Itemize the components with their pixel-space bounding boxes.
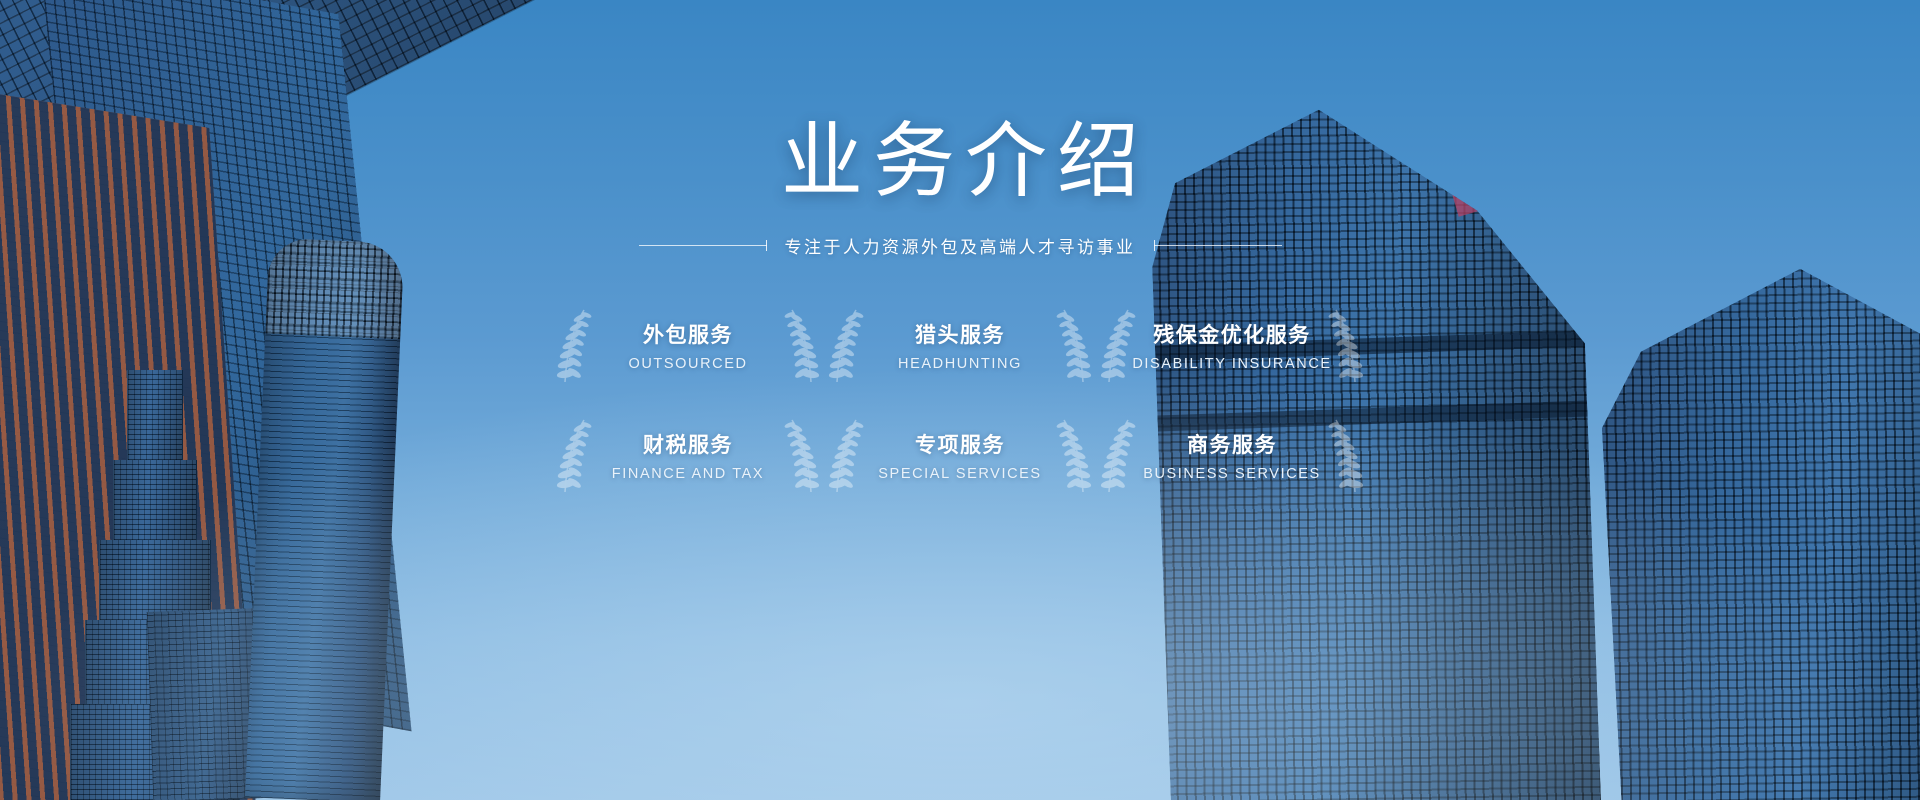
service-label-en: SPECIAL SERVICES <box>878 466 1041 482</box>
service-item-business-services[interactable]: 商务服务 BUSINESS SERVICES <box>1096 412 1368 500</box>
service-label-en: OUTSOURCED <box>628 356 747 372</box>
business-intro-banner: 业务介绍 专注于人力资源外包及高端人才寻访事业 <box>0 0 1920 800</box>
divider-rule-right <box>1154 245 1282 246</box>
service-label-cn: 财税服务 <box>643 429 733 459</box>
laurel-branch-icon <box>1098 416 1136 496</box>
service-label-cn: 外包服务 <box>643 319 733 349</box>
subtitle-row: 专注于人力资源外包及高端人才寻访事业 <box>639 233 1282 258</box>
service-item-disability-insurance[interactable]: 残保金优化服务 DISABILITY INSURANCE <box>1096 302 1368 390</box>
laurel-branch-icon <box>1056 416 1094 496</box>
laurel-branch-icon <box>826 306 864 386</box>
service-label-en: BUSINESS SERVICES <box>1143 466 1321 482</box>
page-title: 业务介绍 <box>771 118 1149 207</box>
divider-rule-left <box>639 245 767 246</box>
services-grid: 外包服务 OUTSOURCED <box>552 302 1368 500</box>
laurel-branch-icon <box>784 416 822 496</box>
service-item-special-services[interactable]: 专项服务 SPECIAL SERVICES <box>824 412 1096 500</box>
laurel-branch-icon <box>1328 306 1366 386</box>
laurel-branch-icon <box>1328 416 1366 496</box>
laurel-branch-icon <box>554 306 592 386</box>
service-label-en: DISABILITY INSURANCE <box>1132 356 1331 372</box>
service-item-headhunting[interactable]: 猎头服务 HEADHUNTING <box>824 302 1096 390</box>
page-subtitle: 专注于人力资源外包及高端人才寻访事业 <box>785 233 1136 258</box>
service-item-finance-and-tax[interactable]: 财税服务 FINANCE AND TAX <box>552 412 824 500</box>
service-label-en: HEADHUNTING <box>898 356 1022 372</box>
service-item-outsourced[interactable]: 外包服务 OUTSOURCED <box>552 302 824 390</box>
service-label-cn: 商务服务 <box>1187 429 1277 459</box>
laurel-branch-icon <box>1098 306 1136 386</box>
service-label-cn: 残保金优化服务 <box>1153 319 1311 349</box>
laurel-branch-icon <box>784 306 822 386</box>
laurel-branch-icon <box>1056 306 1094 386</box>
laurel-branch-icon <box>826 416 864 496</box>
service-label-cn: 专项服务 <box>915 429 1005 459</box>
service-label-cn: 猎头服务 <box>915 319 1005 349</box>
banner-content: 业务介绍 专注于人力资源外包及高端人才寻访事业 <box>0 0 1920 800</box>
laurel-branch-icon <box>554 416 592 496</box>
service-label-en: FINANCE AND TAX <box>612 466 764 482</box>
